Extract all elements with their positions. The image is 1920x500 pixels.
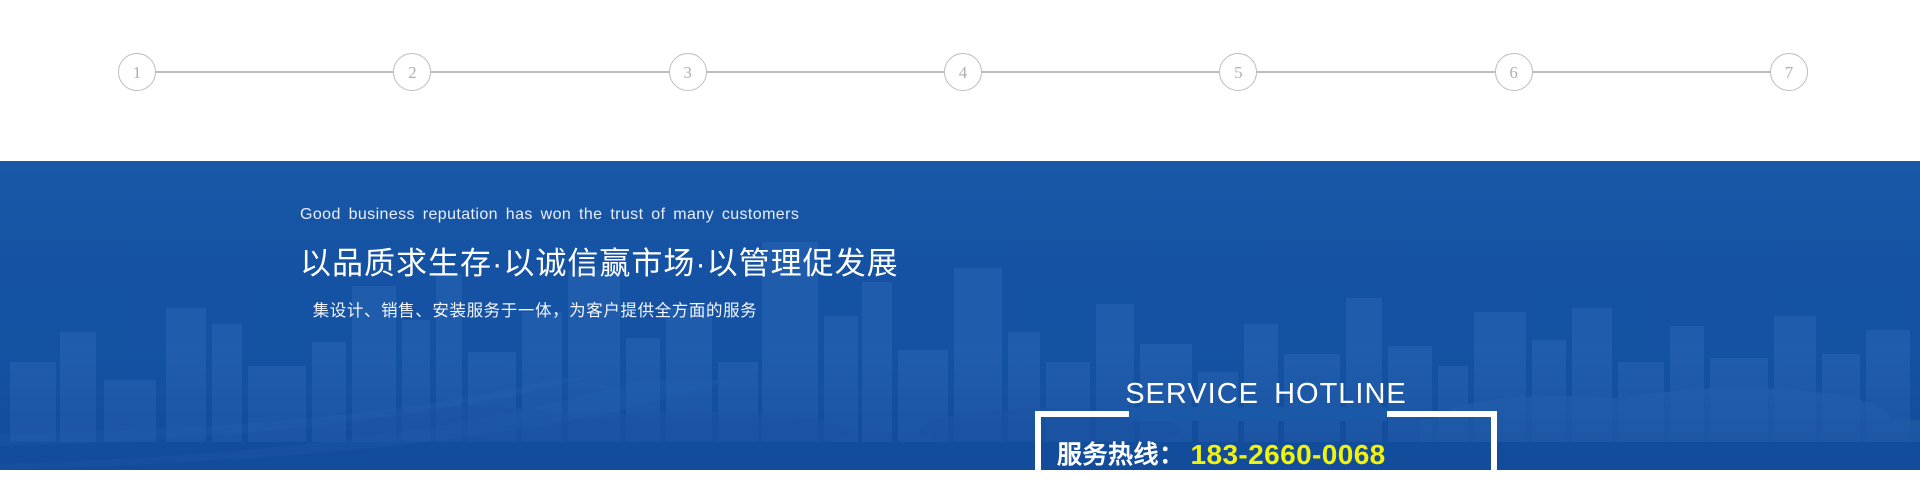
hotline-number-primary[interactable]: 183-2660-0068 — [1191, 433, 1392, 470]
step-connector — [1257, 71, 1494, 73]
step-number: 6 — [1509, 64, 1518, 81]
hotline-title: SERVICE HOTLINE — [1035, 378, 1497, 411]
road-curve-graphic — [0, 360, 1920, 470]
hotline-number-list: 183-2660-0068 0551-63749777 — [1191, 433, 1392, 470]
step-item-1[interactable]: 1 — [118, 53, 156, 91]
pagination-strip: 1 2 3 4 5 6 7 — [0, 0, 1920, 161]
step-number: 4 — [959, 64, 968, 81]
step-item-5[interactable]: 5 — [1219, 53, 1257, 91]
cityscape-skyline-image — [0, 212, 1920, 442]
slogan-english: Good business reputation has won the tru… — [300, 206, 770, 224]
step-number: 5 — [1234, 64, 1243, 81]
step-connector — [707, 71, 944, 73]
bottom-white-strip — [0, 470, 1920, 500]
hotline-content: 服务热线： 183-2660-0068 0551-63749777 — [1057, 433, 1481, 470]
step-number: 3 — [683, 64, 692, 81]
slogan-chinese-headline: 以品质求生存·以诚信赢市场·以管理促发展 — [300, 238, 770, 283]
step-item-7[interactable]: 7 — [1770, 53, 1808, 91]
step-connector — [982, 71, 1219, 73]
step-connector — [156, 71, 393, 73]
step-item-2[interactable]: 2 — [393, 53, 431, 91]
step-item-6[interactable]: 6 — [1495, 53, 1533, 91]
step-list: 1 2 3 4 5 6 7 — [118, 52, 1808, 92]
step-item-4[interactable]: 4 — [944, 53, 982, 91]
slogan-subtitle: 集设计、销售、安装服务于一体，为客户提供全方面的服务 — [300, 297, 770, 321]
promo-banner: Good business reputation has won the tru… — [0, 161, 1920, 470]
hotline-label: 服务热线： — [1057, 433, 1185, 470]
page-root: 1 2 3 4 5 6 7 — [0, 0, 1920, 500]
step-connector — [1533, 71, 1770, 73]
banner-overlay-gradient — [0, 161, 1920, 470]
service-hotline-box: SERVICE HOTLINE 服务热线： 183-2660-0068 0551… — [1035, 411, 1497, 470]
step-connector — [431, 71, 668, 73]
step-item-3[interactable]: 3 — [669, 53, 707, 91]
step-number: 7 — [1785, 64, 1794, 81]
step-number: 2 — [408, 64, 417, 81]
step-number: 1 — [133, 64, 142, 81]
slogan-block: Good business reputation has won the tru… — [300, 206, 770, 321]
